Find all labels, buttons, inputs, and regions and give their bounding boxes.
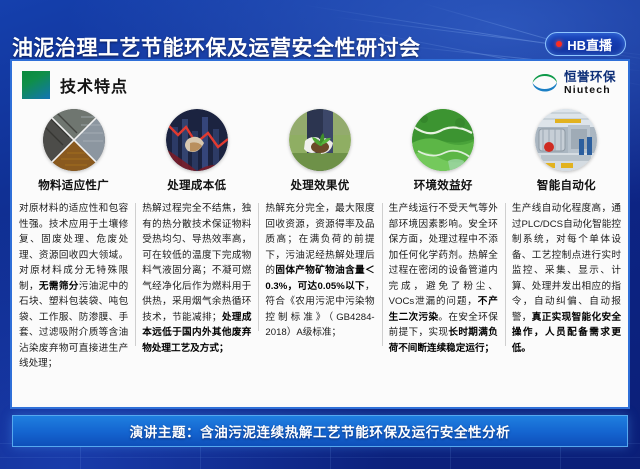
feature-text: 污油泥中的石块、塑料包装袋、吨包袋、工作服、防渗膜、手套、过滤吸附介质等含油沾染… [19, 281, 128, 370]
feature-column: 物料适应性广对原材料的适应性和包容性强。技术应用于土壤修复、固废处理、危废处理、… [12, 109, 135, 407]
feature-label: 处理成本低 [167, 177, 226, 193]
feature-text-emphasis: 固体产物矿物油含量＜0.3%，可达0.05%以下 [265, 265, 374, 292]
footer-banner: 演讲主题：含油污泥连续热解工艺节能环保及运行安全性分析 [12, 415, 628, 447]
live-badge-label: HB直播 [567, 35, 612, 54]
feature-label: 环境效益好 [414, 177, 473, 193]
feature-label: 处理效果优 [291, 177, 350, 193]
feature-text: 对原材料的适应性和包容性强。技术应用于土壤修复、固废处理、危废处理、资源回收四大… [19, 203, 128, 292]
hands-seedling-icon [289, 109, 351, 171]
feature-text: 热解过程完全不结焦，独有的热分散技术保证物料受热均匀、导热效率高，可在较低的温度… [142, 203, 251, 323]
feature-description: 热解过程完全不结焦，独有的热分散技术保证物料受热均匀、导热效率高，可在较低的温度… [142, 201, 251, 356]
feature-text: 生产线运行不受天气等外部环境因素影响。安全环保方面，处理过程中不添加任何化学药剂… [389, 203, 498, 307]
content-card: 技术特点 恒誉环保 Niutech [10, 59, 630, 409]
feature-description: 热解充分完全，最大限度回收资源，资源得率及品质高；在满负荷的前提下，污油泥经热解… [265, 201, 374, 341]
four-materials-icon [43, 109, 105, 171]
niutech-logo-icon [531, 72, 559, 94]
card-header: 技术特点 恒誉环保 Niutech [12, 61, 628, 111]
feature-column: 处理成本低热解过程完全不结焦，独有的热分散技术保证物料受热均匀、导热效率高，可在… [135, 109, 258, 407]
footer-text: 演讲主题：含油污泥连续热解工艺节能环保及运行安全性分析 [130, 421, 511, 441]
feature-label: 物料适应性广 [38, 177, 109, 193]
feature-description: 对原材料的适应性和包容性强。技术应用于土壤修复、固废处理、危废处理、资源回收四大… [19, 201, 128, 372]
factory-automation-icon [535, 109, 597, 171]
cost-chart-icon [166, 109, 228, 171]
live-dot-icon [556, 41, 562, 47]
section-accent-square-icon [22, 71, 50, 99]
brand-name-en: Niutech [564, 85, 616, 96]
presentation-slide: 油泥治理工艺节能环保及运营安全性研讨会 HB直播 技术特点 恒誉环保 Niute… [0, 0, 640, 469]
feature-description: 生产线自动化程度高，通过PLC/DCS自动化智能控制系统，对每个单体设备、工艺控… [512, 201, 621, 356]
feature-column: 智能自动化生产线自动化程度高，通过PLC/DCS自动化智能控制系统，对每个单体设… [505, 109, 628, 407]
feature-columns: 物料适应性广对原材料的适应性和包容性强。技术应用于土壤修复、固废处理、危废处理、… [12, 109, 628, 407]
feature-column: 环境效益好生产线运行不受天气等外部环境因素影响。安全环保方面，处理过程中不添加任… [382, 109, 505, 407]
green-landscape-icon [412, 109, 474, 171]
feature-text: 生产线自动化程度高，通过PLC/DCS自动化智能控制系统，对每个单体设备、工艺控… [512, 203, 621, 323]
slide-title: 油泥治理工艺节能环保及运营安全性研讨会 [12, 32, 421, 62]
feature-column: 处理效果优热解充分完全，最大限度回收资源，资源得率及品质高；在满负荷的前提下，污… [258, 109, 381, 407]
slide-header: 油泥治理工艺节能环保及运营安全性研讨会 HB直播 [0, 10, 640, 50]
feature-text-emphasis: 无需筛分 [39, 281, 79, 292]
brand-name-cn: 恒誉环保 [564, 71, 616, 84]
brand-logo: 恒誉环保 Niutech [531, 71, 616, 95]
feature-label: 智能自动化 [537, 177, 596, 193]
live-badge[interactable]: HB直播 [545, 32, 626, 56]
section-title: 技术特点 [60, 73, 128, 97]
feature-description: 生产线运行不受天气等外部环境因素影响。安全环保方面，处理过程中不添加任何化学药剂… [389, 201, 498, 356]
